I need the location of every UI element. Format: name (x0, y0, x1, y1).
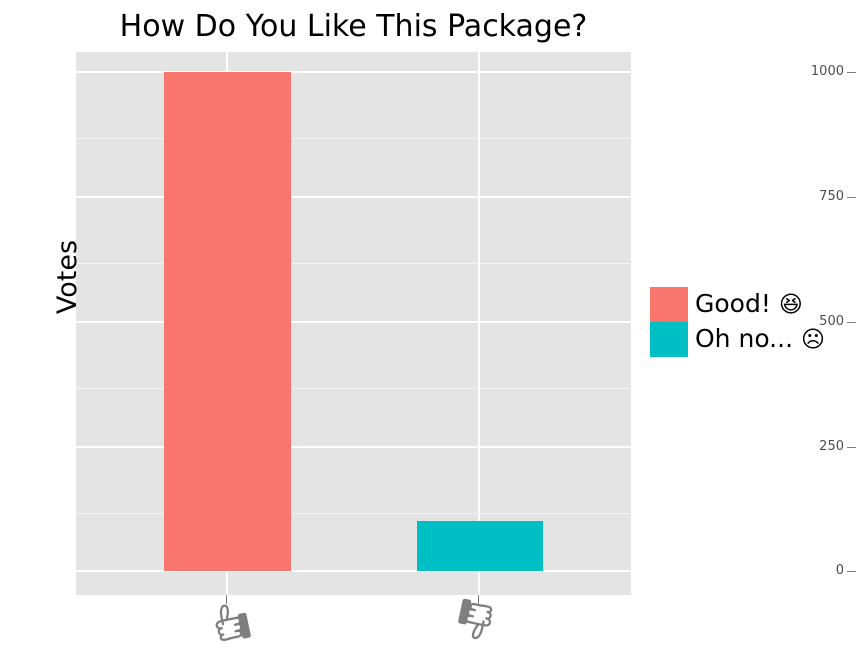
legend-label-ohno: Oh no... ☹ (695, 324, 825, 355)
gridline-minor-375 (76, 388, 631, 389)
y-tick-mark-750 (847, 197, 856, 198)
legend-text-ohno: Oh no... (695, 324, 801, 353)
legend-item-ohno[interactable]: Oh no... ☹ (650, 322, 825, 357)
thumbs-up-icon (200, 596, 254, 649)
gridline-minor-625 (76, 263, 631, 264)
y-tick-label-1000: 1000 (784, 65, 844, 78)
thumbs-down-icon (452, 596, 506, 649)
legend-text-good: Good! (695, 289, 779, 318)
y-tick-mark-250 (847, 447, 856, 448)
y-tick-mark-0 (847, 571, 856, 572)
x-tick-label-thumbs-down (447, 600, 511, 657)
y-tick-label-250: 250 (784, 440, 844, 453)
y-tick-mark-1000 (847, 72, 856, 73)
gridline-major-250 (76, 446, 631, 448)
chart-title: How Do You Like This Package? (76, 8, 631, 46)
gridline-minor-125 (76, 513, 631, 514)
legend-key-ohno (650, 322, 688, 357)
y-tick-label-0: 0 (784, 564, 844, 577)
y-tick-label-750: 750 (784, 190, 844, 203)
gridline-major-x-thumbs-down (478, 52, 480, 595)
gridline-major-500 (76, 321, 631, 323)
gridline-major-0 (76, 570, 631, 572)
legend: Good! 😆 Oh no... ☹ (650, 287, 825, 357)
legend-key-good (650, 287, 688, 322)
legend-label-good: Good! 😆 (695, 289, 803, 320)
plot-panel (76, 52, 631, 595)
grinning-squinting-face-icon: 😆 (779, 292, 803, 318)
bar-ohno (417, 521, 543, 571)
gridline-major-1000 (76, 71, 631, 73)
gridline-minor-875 (76, 138, 631, 139)
y-tick-mark-500 (847, 322, 856, 323)
x-tick-label-thumbs-up (195, 600, 259, 657)
gridline-major-750 (76, 196, 631, 198)
legend-item-good[interactable]: Good! 😆 (650, 287, 825, 322)
frowning-face-icon: ☹ (801, 327, 825, 353)
y-axis-title: Votes (53, 217, 83, 337)
bar-good (164, 72, 291, 571)
